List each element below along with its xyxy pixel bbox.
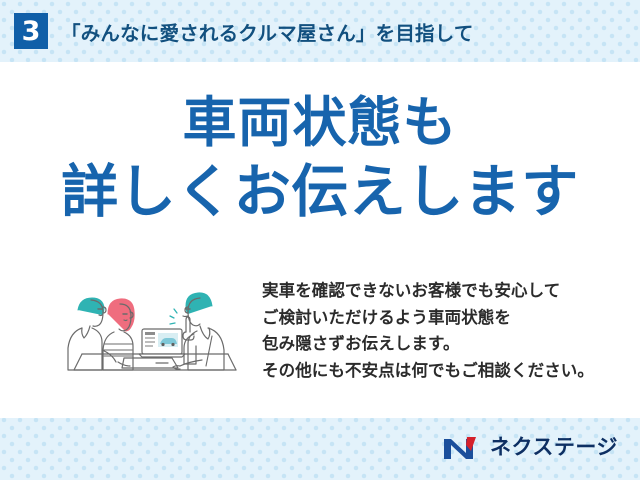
body-copy-line-3: 包み隠さずお伝えします。 [262, 331, 622, 358]
step-number-badge: 3 [14, 13, 48, 49]
headline: 車両状態も 詳しくお伝えします [0, 90, 640, 228]
nextage-n-mark-icon [442, 434, 482, 461]
headline-line-1: 車両状態も [0, 90, 640, 157]
brand-logo: ネクステージ [442, 432, 618, 462]
promo-banner: 3 「みんなに愛されるクルマ屋さん」を目指して 車両状態も 詳しくお伝えします [0, 0, 640, 480]
header-title: 「みんなに愛されるクルマ屋さん」を目指して [61, 17, 474, 46]
headline-line-2: 詳しくお伝えします [0, 157, 640, 228]
content-panel: 車両状態も 詳しくお伝えします [0, 62, 640, 418]
body-copy: 実車を確認できないお客様でも安心して ご検討いただけるよう車両状態を 包み隠さず… [262, 278, 622, 385]
banner-header: 3 「みんなに愛されるクルマ屋さん」を目指して [0, 0, 640, 62]
banner-footer: ネクステージ [0, 418, 640, 480]
body-copy-line-1: 実車を確認できないお客様でも安心して [262, 278, 622, 305]
counter-scene-illustration [60, 274, 250, 394]
brand-name: ネクステージ [490, 437, 618, 458]
body-copy-line-2: ご検討いただけるよう車両状態を [262, 305, 622, 332]
body-copy-line-4: その他にも不安点は何でもご相談ください。 [262, 358, 622, 385]
lower-section: 実車を確認できないお客様でも安心して ご検討いただけるよう車両状態を 包み隠さず… [0, 274, 640, 414]
